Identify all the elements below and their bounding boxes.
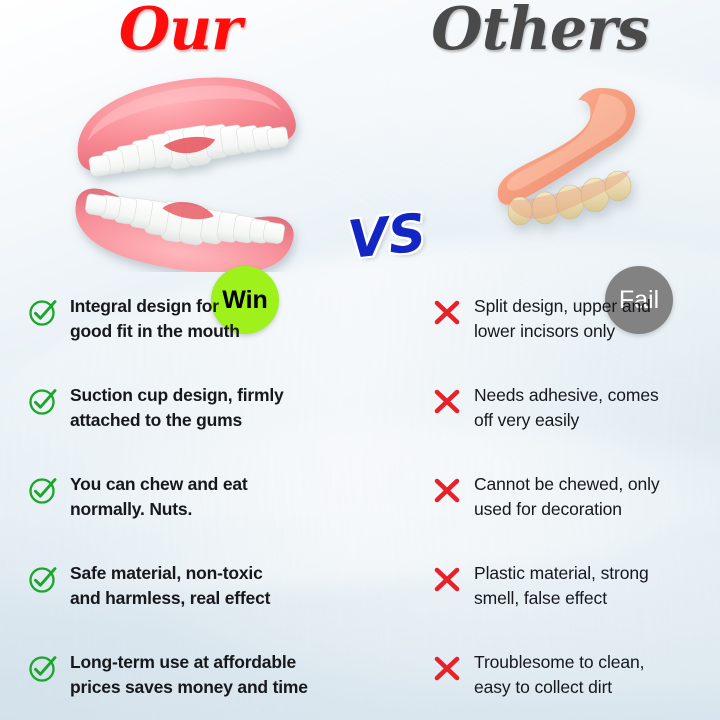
con-cell: Needs adhesive, comes off very easily — [432, 383, 714, 433]
check-circle-icon — [28, 386, 58, 416]
cross-mark-icon — [432, 653, 462, 683]
pro-cell: Suction cup design, firmly attached to t… — [28, 383, 388, 433]
pro-text: You can chew and eat normally. Nuts. — [70, 472, 248, 522]
con-text: Troublesome to clean, easy to collect di… — [474, 650, 644, 700]
pro-text: Suction cup design, firmly attached to t… — [70, 383, 284, 433]
con-cell: Cannot be chewed, only used for decorati… — [432, 472, 714, 522]
hero-product-area: VS Win Fail — [0, 62, 720, 280]
vs-label: VS — [333, 195, 440, 279]
con-text: Cannot be chewed, only used for decorati… — [474, 472, 660, 522]
con-text: Plastic material, strong smell, false ef… — [474, 561, 649, 611]
cross-mark-icon — [432, 386, 462, 416]
check-circle-icon — [28, 564, 58, 594]
pro-text: Safe material, non-toxic and harmless, r… — [70, 561, 270, 611]
comparison-row: Suction cup design, firmly attached to t… — [0, 372, 720, 461]
full-denture-image — [58, 72, 313, 272]
cross-mark-icon — [432, 564, 462, 594]
con-text: Split design, upper and lower incisors o… — [474, 294, 651, 344]
our-column-title: Our — [0, 0, 360, 63]
comparison-row: Integral design for good fit in the mout… — [0, 283, 720, 372]
cross-mark-icon — [432, 297, 462, 327]
cross-mark-icon — [432, 475, 462, 505]
pro-text: Long-term use at affordable prices saves… — [70, 650, 308, 700]
con-cell: Split design, upper and lower incisors o… — [432, 294, 714, 344]
comparison-row: Long-term use at affordable prices saves… — [0, 639, 720, 720]
pro-text: Integral design for good fit in the mout… — [70, 294, 240, 344]
partial-denture-image — [490, 74, 680, 269]
con-cell: Troublesome to clean, easy to collect di… — [432, 650, 714, 700]
con-cell: Plastic material, strong smell, false ef… — [432, 561, 714, 611]
others-column-title: Others — [360, 0, 720, 63]
pro-cell: Integral design for good fit in the mout… — [28, 294, 388, 344]
comparison-row: Safe material, non-toxic and harmless, r… — [0, 550, 720, 639]
comparison-poster: Our Others — [0, 0, 720, 720]
check-circle-icon — [28, 653, 58, 683]
comparison-list: Integral design for good fit in the mout… — [0, 283, 720, 720]
comparison-row: You can chew and eat normally. Nuts. Can… — [0, 461, 720, 550]
pro-cell: Long-term use at affordable prices saves… — [28, 650, 388, 700]
check-circle-icon — [28, 297, 58, 327]
con-text: Needs adhesive, comes off very easily — [474, 383, 659, 433]
pro-cell: You can chew and eat normally. Nuts. — [28, 472, 388, 522]
pro-cell: Safe material, non-toxic and harmless, r… — [28, 561, 388, 611]
check-circle-icon — [28, 475, 58, 505]
